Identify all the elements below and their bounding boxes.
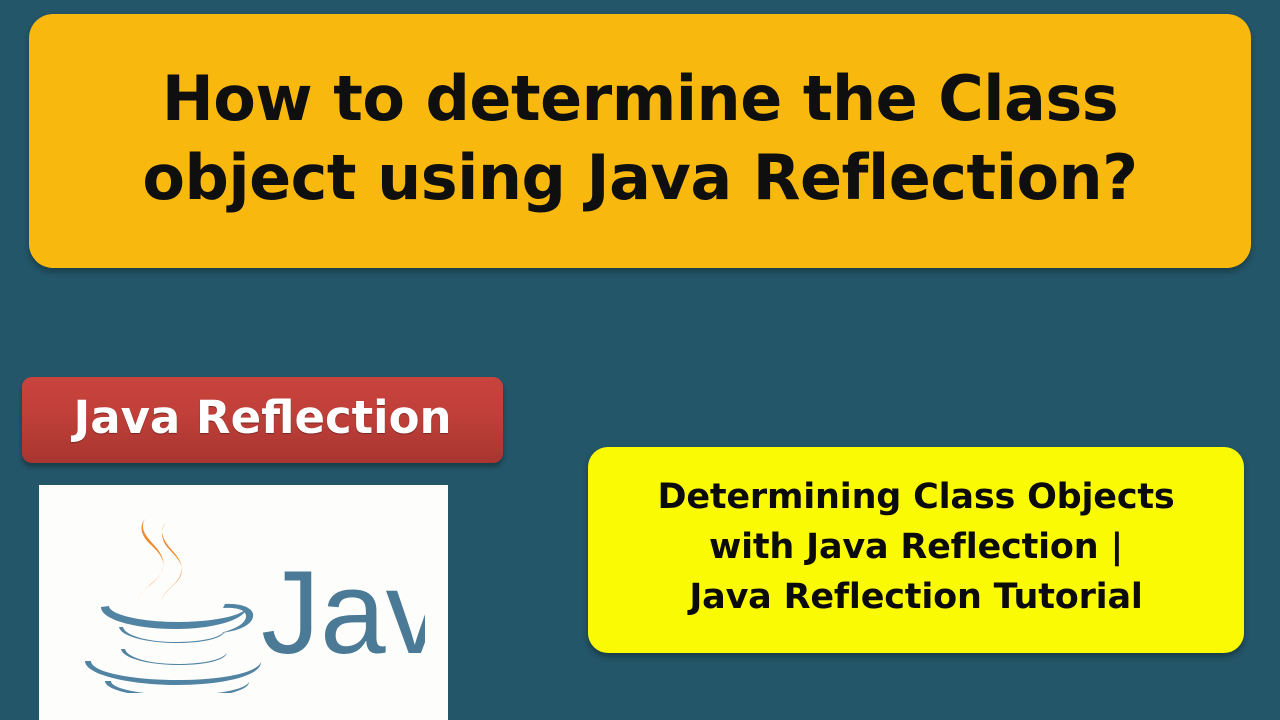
java-wordmark: Java (261, 547, 425, 679)
title-banner: How to determine the Class object using … (29, 14, 1251, 268)
java-logo-card: Java (39, 485, 448, 720)
topic-badge: Java Reflection (22, 377, 503, 463)
steam-swirl-left-icon (139, 519, 163, 601)
java-coffee-cup-icon: Java (65, 493, 425, 693)
subtitle-line-1: Determining Class Objects (657, 473, 1174, 523)
java-logo: Java (65, 493, 425, 693)
page-title-line-2: object using Java Reflection? (142, 143, 1137, 212)
cup-ring-1-icon (119, 627, 225, 643)
slide-canvas: How to determine the Class object using … (0, 0, 1280, 720)
cup-ring-2-icon (121, 649, 227, 665)
topic-badge-label: Java Reflection (73, 391, 451, 444)
page-title-line-1: How to determine the Class (162, 64, 1118, 133)
cup-rim-icon (101, 606, 247, 629)
steam-swirl-right-icon (161, 522, 182, 603)
subtitle-box: Determining Class Objects with Java Refl… (588, 447, 1244, 653)
subtitle-line-2: with Java Reflection | (709, 523, 1123, 573)
subtitle-line-3: Java Reflection Tutorial (689, 573, 1142, 623)
